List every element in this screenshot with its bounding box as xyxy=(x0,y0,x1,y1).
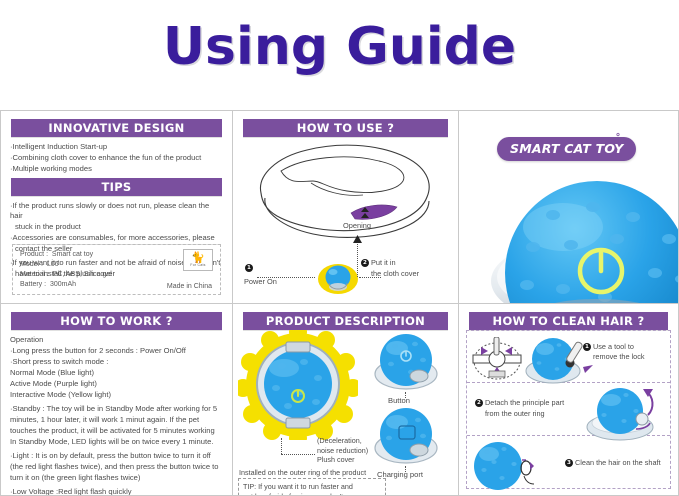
work-line: ·Short press to switch mode : xyxy=(10,357,223,367)
status-line: ·Low Voltage :Red light flash quickly xyxy=(10,487,223,496)
clean-step-3-line1: Clean the hair on the shaft xyxy=(575,458,661,467)
clean-step-3-number: 3 xyxy=(565,459,573,467)
how-to-work-body: Operation ·Long press the button for 2 s… xyxy=(1,335,232,496)
panel-how-to-work: HOW TO WORK ? Operation ·Long press the … xyxy=(0,303,233,496)
panel-grid: INNOVATIVE DESIGN ·Intelligent Induction… xyxy=(0,110,679,496)
toy-ball-with-plush-icon xyxy=(317,261,359,295)
clean-step-row: 2Detach the principle part from the oute… xyxy=(467,383,670,435)
clean-step-1-text: 1Use a tool to remove the lock xyxy=(583,342,665,362)
clean-steps-container: 1Use a tool to remove the lock 2Detach t… xyxy=(466,330,671,489)
standby-line: In Standby Mode, LED lights will be on t… xyxy=(10,437,223,447)
step-2-line1: Put it in xyxy=(371,258,396,267)
clean-step-2-line2: from the outer ring xyxy=(475,409,545,418)
clean-step-2-line1: Detach the principle part xyxy=(485,398,564,407)
clean-step-row: 3Clean the hair on the shaft xyxy=(467,436,670,488)
spec-material: Material : PC, ABS, Silica gel xyxy=(20,270,213,280)
page-title-container: Using Guide xyxy=(0,0,679,108)
using-guide-page: Using Guide INNOVATIVE DESIGN ·Intellige… xyxy=(0,0,679,496)
clean-step-1-line1: Use a tool to xyxy=(593,342,634,351)
how-to-use-illustration: Opening xyxy=(233,137,459,303)
badge-degree-mark: ° xyxy=(616,132,620,143)
light-line: (the red light flashes twice), and then … xyxy=(10,462,223,472)
bullet: ·Multiple working modes xyxy=(10,164,223,174)
installed-label: Installed on the outer ring of the produ… xyxy=(239,468,366,477)
panel-product-description: PRODUCT DESCRIPTION xyxy=(233,303,459,496)
tips-header: TIPS xyxy=(11,178,222,196)
bullet: ·Intelligent Induction Start-up xyxy=(10,142,223,152)
standby-line: ·Standby : The toy will be in Standby Mo… xyxy=(10,404,223,414)
panel-how-to-use: HOW TO USE ? Opening xyxy=(233,110,459,303)
panel-how-to-clean-hair: HOW TO CLEAN HAIR ? xyxy=(459,303,679,496)
cat-glyph: 🐈 xyxy=(191,254,205,263)
how-to-use-header: HOW TO USE ? xyxy=(243,119,448,137)
charging-port-view-icon xyxy=(373,404,439,466)
innovative-design-bullets: ·Intelligent Induction Start-up ·Combini… xyxy=(1,142,232,174)
connector-line xyxy=(281,438,282,454)
clean-step-3-text: 3Clean the hair on the shaft xyxy=(565,458,665,468)
light-line: ·Light : It is on by default, press the … xyxy=(10,451,223,461)
plush-tip-box: TIP: If you want it to run faster and no… xyxy=(238,478,386,496)
bullet: ·Combining cloth cover to enhance the fu… xyxy=(10,153,223,163)
step-2-number: 2 xyxy=(361,259,369,267)
tip-line-2: not be afraid of noise, you don't xyxy=(243,492,343,496)
connector-line xyxy=(357,241,358,277)
cat-icon: 🐈 For Cats xyxy=(183,249,213,271)
clean-step-2-text: 2Detach the principle part from the oute… xyxy=(475,398,580,418)
cat-badge-caption: For Cats xyxy=(190,263,205,267)
cover-arrow-icon xyxy=(352,235,363,244)
step-1-marker: 1 xyxy=(245,263,255,272)
made-in-label: Made in China xyxy=(167,283,212,290)
clean-step-row: 1Use a tool to remove the lock xyxy=(467,331,670,383)
power-on-label: Power On xyxy=(244,277,277,286)
clean-step-1-number: 1 xyxy=(583,343,591,351)
how-to-clean-header: HOW TO CLEAN HAIR ? xyxy=(469,312,668,330)
tip-line: stuck in the product xyxy=(10,222,223,232)
light-line: turn it on (the green light flashes twic… xyxy=(10,473,223,483)
note-line-3: Plush cover xyxy=(317,455,355,464)
plush-cover-ball-icon xyxy=(238,330,358,440)
page-title: Using Guide xyxy=(163,21,516,73)
how-to-work-header: HOW TO WORK ? xyxy=(11,312,222,330)
step-2-block: 2Put it in the cloth cover xyxy=(361,258,419,279)
product-description-illustration: (Deceleration, noise reduction) Plush co… xyxy=(233,328,459,496)
step-1-number: 1 xyxy=(245,264,253,272)
hero-toy-ball xyxy=(485,169,679,303)
innovative-design-header: INNOVATIVE DESIGN xyxy=(11,119,222,137)
detach-ring-icon xyxy=(580,385,666,443)
opening-label: Opening xyxy=(343,221,371,230)
shaft-cleaning-icon xyxy=(472,440,534,492)
connector-line xyxy=(281,454,315,455)
note-line-1: (Deceleration, xyxy=(317,436,362,445)
clean-step-1-line2: remove the lock xyxy=(583,352,645,361)
work-line: ·Long press the button for 2 seconds : P… xyxy=(10,346,223,356)
clean-step-2-number: 2 xyxy=(475,399,483,407)
panel-hero-image: SMART CAT TOY ° xyxy=(459,110,679,303)
panel-innovative-design: INNOVATIVE DESIGN ·Intelligent Induction… xyxy=(0,110,233,303)
tip-line-1: TIP: If you want it to run faster and xyxy=(243,482,353,491)
work-line: Normal Mode (Blue light) xyxy=(10,368,223,378)
standby-line: touches the product, it will be activate… xyxy=(10,426,223,436)
charging-port-label: Charging port xyxy=(377,470,423,479)
work-line: Active Mode (Purple light) xyxy=(10,379,223,389)
step-2-line2: the cloth cover xyxy=(361,269,419,278)
note-line-2: noise reduction) xyxy=(317,446,368,455)
standby-line: minutes, 1 hour later, it will work 1 mi… xyxy=(10,415,223,425)
work-line: Interactive Mode (Yellow light) xyxy=(10,390,223,400)
tip-line: ·Accessories are consumables, for more a… xyxy=(10,233,223,243)
opening-arrow-icon xyxy=(359,207,371,221)
work-line: Operation xyxy=(10,335,223,345)
plush-cover-note: (Deceleration, noise reduction) Plush co… xyxy=(317,436,368,465)
lock-diagram-icon xyxy=(471,337,523,381)
product-spec-box: Product : Smart cat toy Model : L06 Mate… xyxy=(12,244,221,295)
tip-line: ·If the product runs slowly or does not … xyxy=(10,201,223,221)
button-view-icon xyxy=(373,330,439,392)
